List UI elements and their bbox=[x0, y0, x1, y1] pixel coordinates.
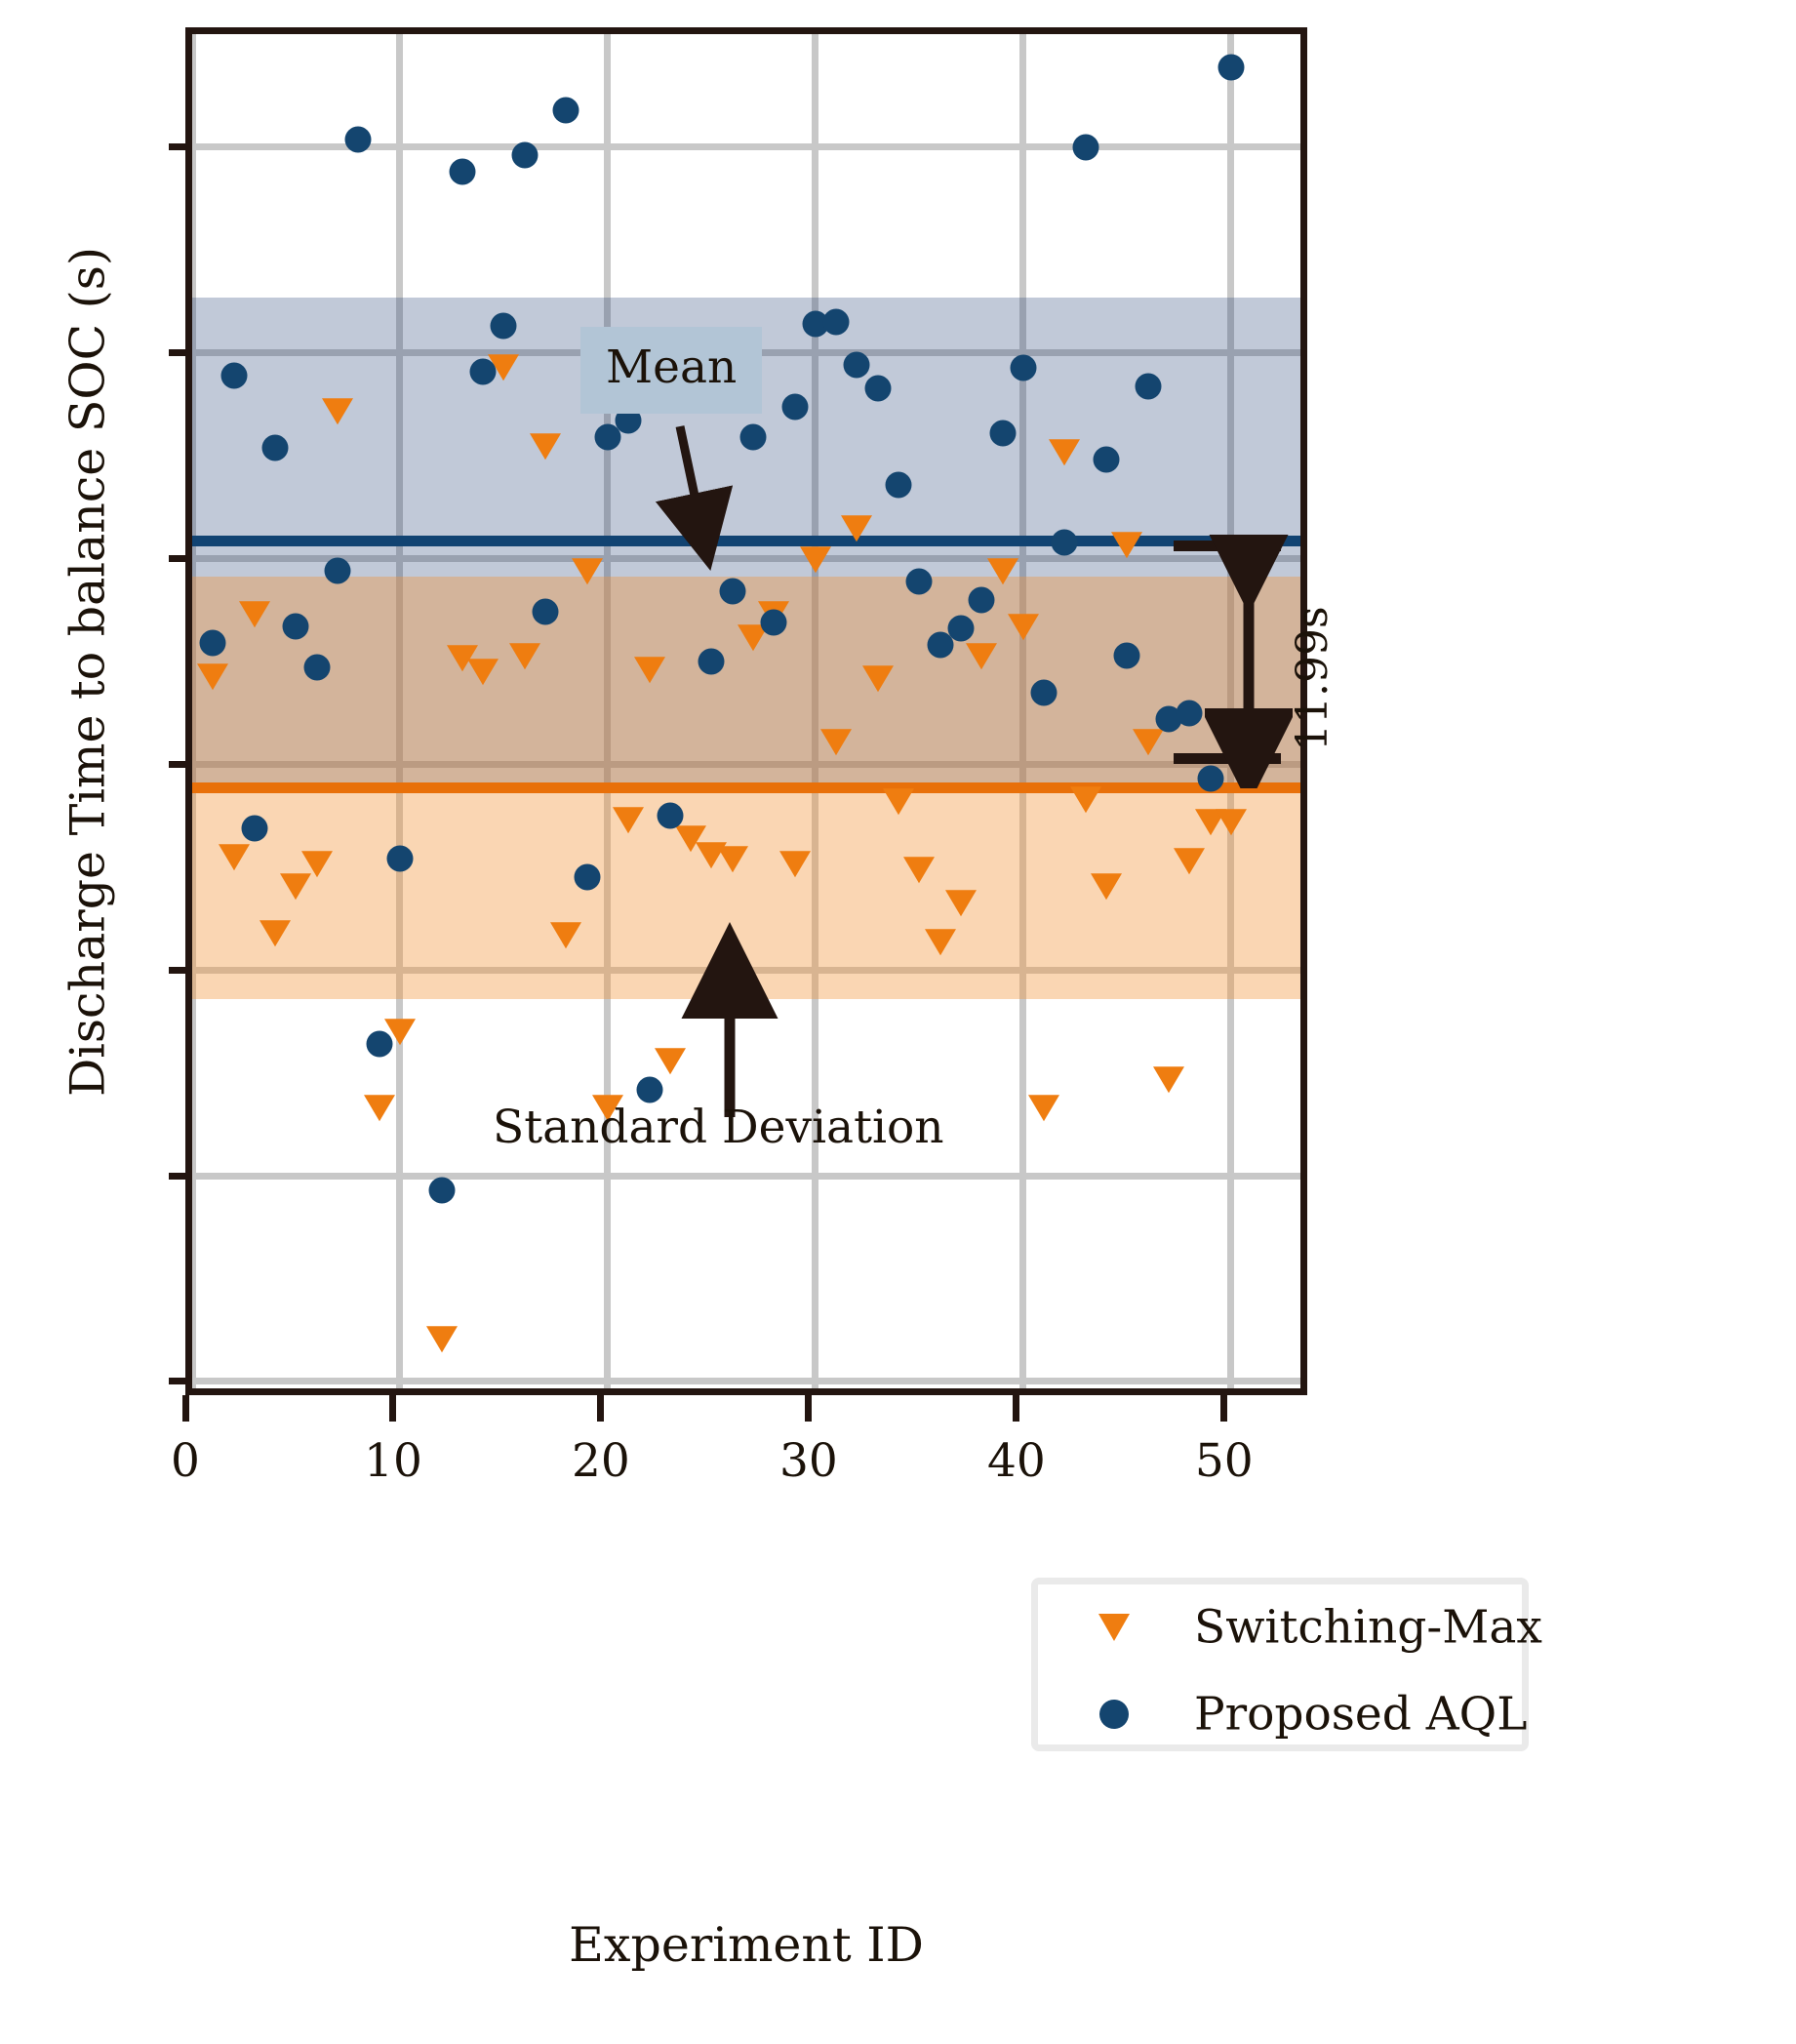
data-point bbox=[533, 599, 559, 625]
data-point bbox=[386, 846, 413, 872]
data-point bbox=[553, 98, 579, 124]
data-point bbox=[800, 546, 831, 573]
figure-canvas: Discharge Time to balance SOC (s) Mean bbox=[0, 0, 1796, 2044]
data-point bbox=[1052, 529, 1078, 555]
legend-label-0: Switching-Max bbox=[1194, 1601, 1542, 1655]
data-point bbox=[1153, 1066, 1184, 1093]
data-point bbox=[823, 309, 850, 336]
data-point bbox=[1114, 642, 1140, 668]
data-point bbox=[197, 663, 228, 690]
data-point bbox=[1094, 447, 1120, 473]
data-point bbox=[259, 920, 291, 946]
gap-annotation-label: 11.99s bbox=[1288, 606, 1337, 751]
y-tick-mark bbox=[169, 143, 192, 150]
data-point bbox=[449, 159, 475, 185]
data-point bbox=[572, 558, 603, 584]
x-tick-mark bbox=[1013, 1395, 1019, 1422]
data-point bbox=[200, 630, 226, 657]
data-point bbox=[613, 807, 644, 833]
y-axis-label: Discharge Time to balance SOC (s) bbox=[60, 136, 116, 1209]
data-point bbox=[550, 923, 581, 949]
data-point bbox=[428, 1177, 455, 1203]
data-point bbox=[511, 142, 538, 169]
circle-marker bbox=[1099, 1700, 1129, 1729]
data-point bbox=[906, 568, 933, 594]
x-tick-label: 0 bbox=[171, 1434, 200, 1488]
data-point bbox=[989, 421, 1016, 447]
data-point bbox=[717, 846, 748, 872]
x-tick-mark bbox=[182, 1395, 189, 1422]
data-point bbox=[509, 643, 540, 669]
data-point bbox=[1135, 373, 1161, 399]
data-point bbox=[283, 614, 309, 640]
data-point bbox=[719, 579, 745, 605]
data-point bbox=[574, 864, 600, 891]
data-point bbox=[1049, 439, 1080, 465]
data-point bbox=[966, 643, 997, 669]
y-tick-mark bbox=[169, 1378, 192, 1384]
triangle-down-marker bbox=[1098, 1614, 1130, 1641]
data-point bbox=[1216, 810, 1247, 836]
x-tick-label: 50 bbox=[1195, 1434, 1254, 1488]
data-point bbox=[945, 890, 977, 916]
data-point bbox=[322, 398, 353, 424]
data-point bbox=[1111, 532, 1142, 558]
plot-area: Mean 30405060708090 bbox=[185, 27, 1307, 1395]
data-point bbox=[1031, 679, 1058, 705]
data-point bbox=[636, 1076, 662, 1102]
data-point bbox=[1133, 729, 1164, 755]
mean-line-switching-max bbox=[192, 782, 1300, 793]
data-point bbox=[634, 658, 665, 684]
data-point bbox=[220, 362, 247, 388]
mean-annotation-label: Mean bbox=[580, 327, 762, 414]
x-tick-label: 40 bbox=[987, 1434, 1046, 1488]
data-point bbox=[1072, 134, 1098, 160]
x-tick-mark bbox=[1220, 1395, 1227, 1422]
data-point bbox=[655, 1048, 686, 1074]
x-axis-label: Experiment ID bbox=[185, 1917, 1307, 1973]
data-point bbox=[345, 126, 372, 152]
x-tick-label: 10 bbox=[364, 1434, 422, 1488]
data-point bbox=[820, 729, 852, 755]
data-point bbox=[657, 803, 683, 829]
gap-double-arrow bbox=[1205, 535, 1293, 788]
y-tick-mark bbox=[169, 349, 192, 356]
data-point bbox=[886, 471, 912, 498]
data-point bbox=[1177, 700, 1203, 726]
data-point bbox=[491, 313, 517, 340]
plot-inner: Mean bbox=[192, 34, 1300, 1388]
std-annotation-label: Standard Deviation bbox=[493, 1101, 944, 1154]
data-point bbox=[841, 515, 872, 541]
data-point bbox=[467, 660, 499, 686]
data-point bbox=[303, 655, 330, 681]
data-point bbox=[366, 1031, 392, 1058]
y-tick-mark bbox=[169, 555, 192, 562]
data-point bbox=[301, 851, 333, 877]
data-point bbox=[947, 616, 974, 642]
y-tick-mark bbox=[169, 761, 192, 768]
x-tick-label: 20 bbox=[572, 1434, 630, 1488]
data-point bbox=[779, 851, 811, 877]
data-point bbox=[1008, 614, 1039, 640]
legend-entry-1[interactable]: Proposed AQL bbox=[1038, 1671, 1522, 1758]
data-point bbox=[781, 393, 808, 420]
data-point bbox=[864, 375, 891, 401]
data-point bbox=[698, 649, 725, 675]
data-point bbox=[364, 1096, 395, 1122]
data-point bbox=[969, 586, 995, 613]
data-point bbox=[925, 929, 956, 955]
x-tick-mark bbox=[805, 1395, 812, 1422]
gridline-horizontal bbox=[192, 1378, 1300, 1384]
data-point bbox=[262, 434, 289, 461]
y-tick-mark bbox=[169, 1173, 192, 1180]
legend-entry-0[interactable]: Switching-Max bbox=[1038, 1584, 1522, 1671]
data-point bbox=[426, 1326, 458, 1352]
data-point bbox=[1091, 873, 1122, 900]
data-point bbox=[1174, 849, 1205, 875]
data-point bbox=[219, 844, 250, 870]
data-point bbox=[325, 558, 351, 584]
data-point bbox=[1028, 1096, 1059, 1122]
data-point bbox=[1010, 354, 1036, 381]
legend-label-1: Proposed AQL bbox=[1194, 1688, 1527, 1742]
gridline-horizontal bbox=[192, 1173, 1300, 1180]
x-tick-mark bbox=[597, 1395, 604, 1422]
data-point bbox=[280, 873, 311, 900]
data-point bbox=[740, 424, 767, 451]
data-point bbox=[530, 433, 561, 460]
x-tick-label: 30 bbox=[779, 1434, 838, 1488]
data-point bbox=[470, 358, 497, 384]
legend[interactable]: Switching-Max Proposed AQL bbox=[1031, 1578, 1529, 1751]
data-point bbox=[1070, 786, 1101, 813]
data-point bbox=[241, 815, 267, 841]
data-point bbox=[987, 558, 1018, 584]
data-point bbox=[883, 788, 914, 815]
data-point bbox=[761, 609, 787, 635]
data-point bbox=[239, 602, 270, 628]
data-point bbox=[1217, 54, 1244, 80]
data-point bbox=[903, 857, 935, 883]
data-point bbox=[862, 665, 894, 692]
x-axis: 01020304050 bbox=[185, 1395, 1307, 1503]
x-tick-mark bbox=[389, 1395, 396, 1422]
data-point bbox=[844, 352, 870, 379]
y-tick-mark bbox=[169, 967, 192, 974]
